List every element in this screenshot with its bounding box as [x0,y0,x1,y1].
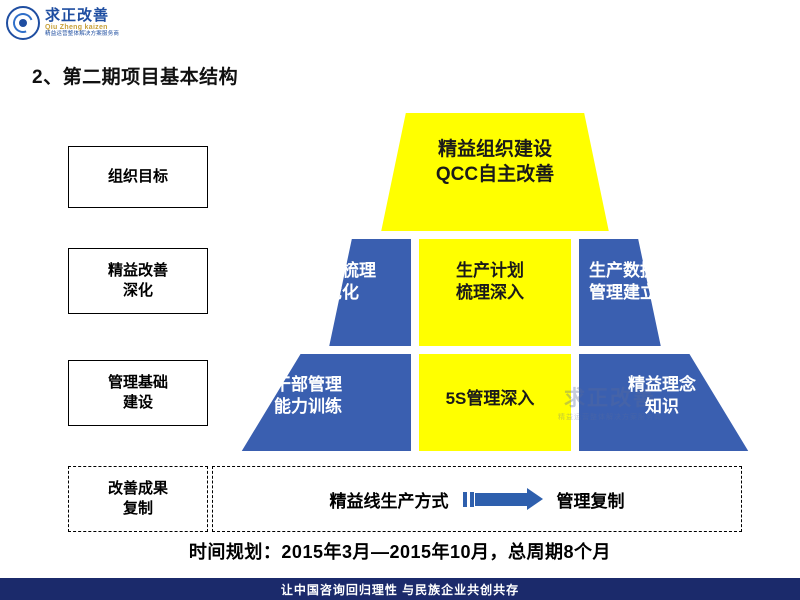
right-arrow-icon [463,488,543,510]
pyramid-shapes [210,112,750,452]
footer-bar: 让中国咨询回归理性 与民族企业共创共存 [0,578,800,600]
label-box-lean-improvement: 精益改善 深化 [68,248,208,314]
pyramid-tier-middle-right [578,238,662,347]
page-title: 2、第二期项目基本结构 [32,62,238,89]
arrow-body [475,493,527,506]
pyramid-tier-bottom-right [578,353,750,452]
schedule-text: 时间规划：2015年3月—2015年10月，总周期8个月 [0,538,800,564]
label-box-text: 管理基础 建设 [108,373,168,414]
pyramid-diagram: 求正改善 精益运营整体解决方案服务商 精益组织建设 QCC自主改善 流程梳理 优… [210,112,750,452]
result-replication-box: 精益线生产方式 管理复制 [212,466,742,532]
label-box-text: 精益改善 深化 [108,261,168,302]
result-right-text: 管理复制 [557,487,625,512]
logo-circle-icon [6,6,40,40]
label-box-text: 组织目标 [108,167,168,187]
pyramid-tier-middle-left [328,238,412,347]
label-box-management-foundation: 管理基础 建设 [68,360,208,426]
logo-text-block: 求正改善 Qiu Zheng kaizen 精益运营整体解决方案服务商 [45,8,119,38]
pyramid-tier-bottom-left [240,353,412,452]
company-logo: 求正改善 Qiu Zheng kaizen 精益运营整体解决方案服务商 [0,0,150,46]
footer-text: 让中国咨询回归理性 与民族企业共创共存 [281,581,519,598]
arrow-bars-icon [463,492,474,507]
pyramid-tier-middle-center [418,238,572,347]
pyramid-tier-top [380,112,610,232]
logo-tagline: 精益运营整体解决方案服务商 [45,32,119,38]
label-box-organization-goal: 组织目标 [68,146,208,208]
label-box-result-replication: 改善成果 复制 [68,466,208,532]
pyramid-tier-bottom-center [418,353,572,452]
label-box-text: 改善成果 复制 [108,479,168,520]
logo-name-cn: 求正改善 [45,8,119,24]
slide-canvas: 求正改善 Qiu Zheng kaizen 精益运营整体解决方案服务商 2、第二… [0,0,800,600]
result-left-text: 精益线生产方式 [330,487,449,512]
arrow-head [527,488,543,510]
